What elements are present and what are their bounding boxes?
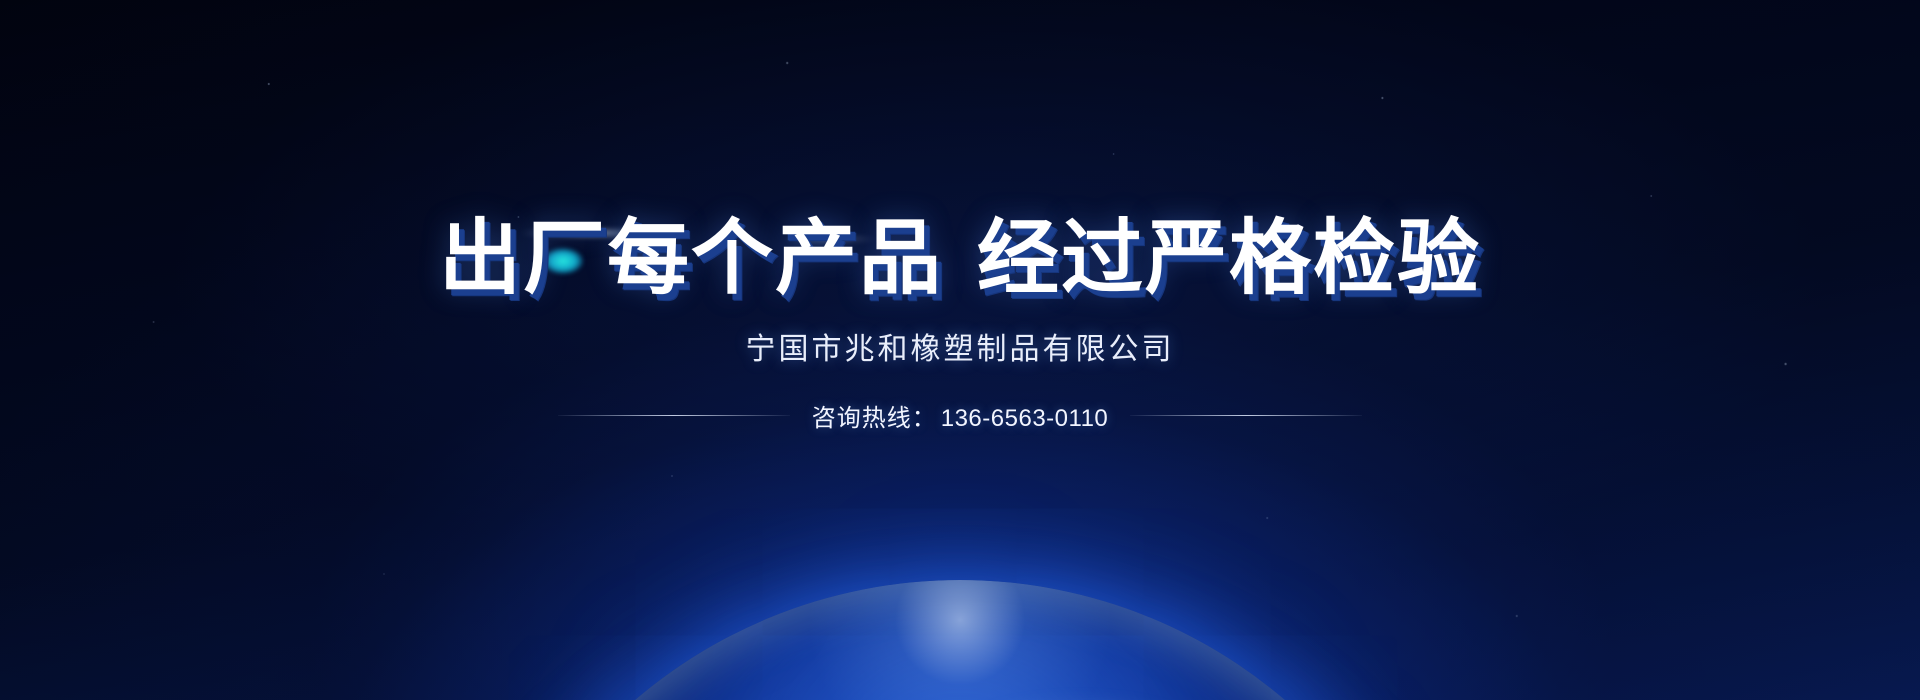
hotline-row: 咨询热线：136-6563-0110 — [558, 398, 1363, 433]
divider-line-right — [1130, 415, 1362, 416]
banner-content: 出厂每个产品经过严格检验 宁国市兆和橡塑制品有限公司 咨询热线：136-6563… — [0, 0, 1920, 433]
hotline-text: 咨询热线：136-6563-0110 — [812, 398, 1109, 433]
hotline-label: 咨询热线： — [812, 405, 937, 432]
headline-part-right: 经过严格检验 — [977, 213, 1481, 304]
page-title: 出厂每个产品经过严格检验 — [439, 218, 1481, 300]
divider-line-left — [558, 415, 790, 416]
hero-banner: 出厂每个产品经过严格检验 宁国市兆和橡塑制品有限公司 咨询热线：136-6563… — [0, 0, 1920, 700]
headline-part-left: 出厂每个产品 — [439, 213, 943, 304]
hotline-number[interactable]: 136-6563-0110 — [941, 405, 1109, 432]
globe-planet — [460, 580, 1460, 700]
company-name: 宁国市兆和橡塑制品有限公司 — [746, 324, 1175, 368]
